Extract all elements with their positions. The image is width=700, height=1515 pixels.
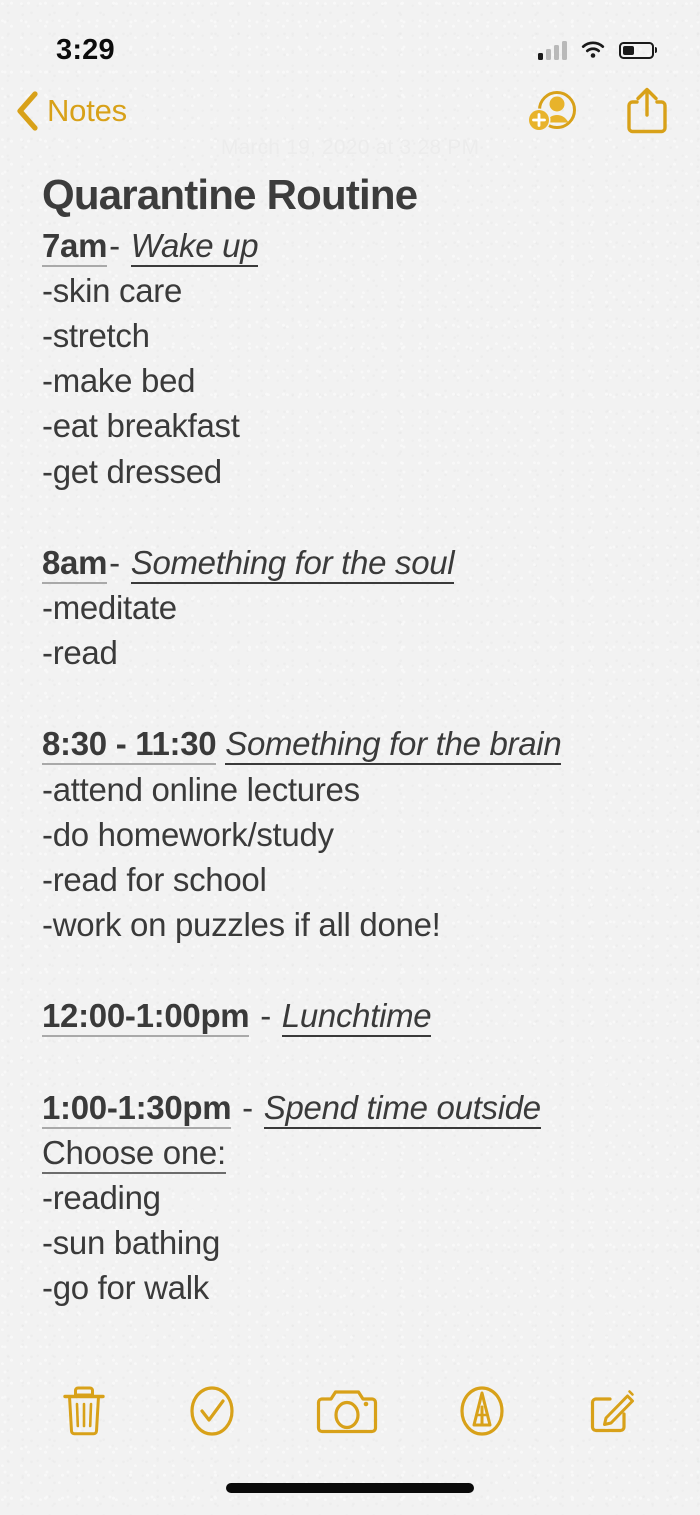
choose-one-note: Choose one: (42, 1130, 660, 1175)
schedule-time: 8am (42, 544, 107, 584)
schedule-dash: - (107, 544, 122, 581)
compose-button[interactable] (586, 1383, 640, 1439)
schedule-dash: - (107, 227, 122, 264)
block-spacer (42, 675, 660, 721)
schedule-subject: Wake up (131, 227, 259, 267)
schedule-dash: - (240, 1089, 255, 1126)
delete-button[interactable] (60, 1383, 108, 1439)
checklist-circle-icon (185, 1383, 239, 1439)
compose-icon (586, 1383, 640, 1439)
list-item: -read (42, 630, 660, 675)
block-spacer (42, 1039, 660, 1085)
list-item: -meditate (42, 585, 660, 630)
schedule-subject: Spend time outside (264, 1089, 541, 1129)
home-indicator (226, 1483, 474, 1493)
camera-icon (316, 1385, 378, 1437)
list-item: -attend online lectures (42, 767, 660, 812)
share-icon[interactable] (624, 85, 670, 137)
schedule-heading: 1:00-1:30pm - Spend time outside (42, 1085, 660, 1130)
block-spacer (42, 947, 660, 993)
signal-bars-icon (538, 40, 567, 60)
schedule-time: 8:30 - 11:30 (42, 725, 216, 765)
list-item: -eat breakfast (42, 403, 660, 448)
note-body[interactable]: Quarantine Routine 7am- Wake up -skin ca… (0, 162, 700, 1311)
battery-icon (619, 42, 654, 59)
status-bar-indicators (538, 40, 654, 60)
back-to-notes-button[interactable]: Notes (14, 90, 127, 132)
list-item: -get dressed (42, 449, 660, 494)
list-item: -skin care (42, 268, 660, 313)
choose-one-label: Choose one: (42, 1134, 226, 1174)
camera-button[interactable] (316, 1385, 378, 1437)
list-item: -reading (42, 1175, 660, 1220)
back-button-label: Notes (47, 93, 127, 129)
bottom-toolbar (0, 1371, 700, 1451)
checklist-button[interactable] (185, 1383, 239, 1439)
markup-button[interactable] (455, 1383, 509, 1439)
note-title: Quarantine Routine (42, 170, 660, 220)
schedule-subject: Lunchtime (282, 997, 432, 1037)
list-item: -do homework/study (42, 812, 660, 857)
navigation-bar: Notes (0, 78, 700, 144)
navigation-actions (524, 85, 670, 137)
list-item: -read for school (42, 857, 660, 902)
block-spacer (42, 494, 660, 540)
markup-pen-icon (455, 1383, 509, 1439)
schedule-heading: 12:00-1:00pm - Lunchtime (42, 993, 660, 1038)
schedule-block: 12:00-1:00pm - Lunchtime (42, 993, 660, 1038)
status-bar-time: 3:29 (56, 34, 115, 67)
schedule-block: 8:30 - 11:30 Something for the brain -at… (42, 721, 660, 947)
schedule-block: 1:00-1:30pm - Spend time outside Choose … (42, 1085, 660, 1311)
schedule-subject: Something for the soul (131, 544, 455, 584)
schedule-time: 7am (42, 227, 107, 267)
chevron-left-icon (14, 90, 40, 132)
document-date: March 19, 2020 at 3:28 PM (0, 136, 700, 162)
list-item: -make bed (42, 358, 660, 403)
schedule-block: 8am- Something for the soul -meditate -r… (42, 540, 660, 676)
schedule-time: 1:00-1:30pm (42, 1089, 231, 1129)
schedule-time: 12:00-1:00pm (42, 997, 249, 1037)
schedule-block: 7am- Wake up -skin care -stretch -make b… (42, 223, 660, 494)
status-bar: 3:29 (0, 0, 700, 78)
schedule-heading: 7am- Wake up (42, 223, 660, 268)
add-person-icon[interactable] (524, 87, 580, 135)
list-item: -sun bathing (42, 1220, 660, 1265)
schedule-dash: - (258, 997, 273, 1034)
delete-icon (60, 1383, 108, 1439)
list-item: -stretch (42, 313, 660, 358)
wifi-icon (580, 40, 606, 60)
schedule-heading: 8am- Something for the soul (42, 540, 660, 585)
schedule-subject: Something for the brain (225, 725, 561, 765)
list-item: -go for walk (42, 1265, 660, 1310)
list-item: -work on puzzles if all done! (42, 902, 660, 947)
schedule-heading: 8:30 - 11:30 Something for the brain (42, 721, 660, 766)
